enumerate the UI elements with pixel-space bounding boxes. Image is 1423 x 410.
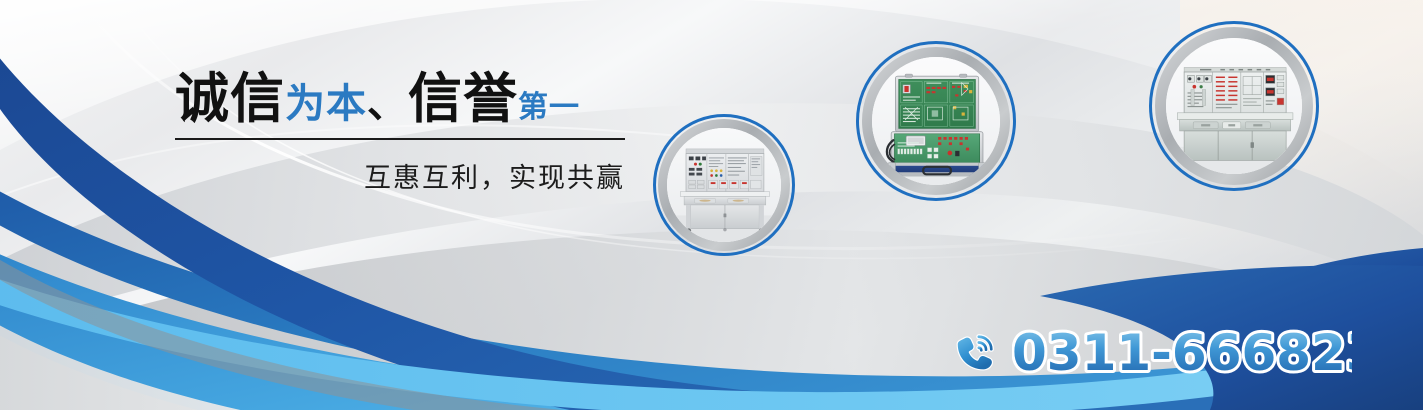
large-bench-illustration <box>1166 38 1302 174</box>
phone-call-icon[interactable] <box>952 331 998 377</box>
product-photo-3 <box>1166 38 1302 174</box>
product-circle-3[interactable] <box>1149 21 1319 191</box>
headline-xinyu: 信誉 <box>408 67 518 130</box>
training-case-illustration <box>872 57 1000 185</box>
headline-divider <box>175 138 625 140</box>
product-circle-2[interactable] <box>856 41 1016 201</box>
headline-block: 诚信为本、信誉第一 互惠互利，实现共赢 <box>175 72 625 195</box>
headline-line-1: 诚信为本、信誉第一 <box>175 72 625 126</box>
headline-dunhao: 、 <box>367 81 408 127</box>
headline-weiben: 为本 <box>285 81 367 127</box>
contact-phone-row[interactable]: 0311-66682303 <box>952 325 1352 383</box>
product-photo-2 <box>872 57 1000 185</box>
phone-number-label: 0311-66682303 <box>1012 325 1352 382</box>
headline-chengxin: 诚信 <box>175 67 285 130</box>
workbench-illustration <box>667 128 781 242</box>
phone-number-graphic[interactable]: 0311-66682303 <box>1012 325 1352 383</box>
headline-diyi: 第一 <box>518 90 580 125</box>
promo-banner: 诚信为本、信誉第一 互惠互利，实现共赢 <box>0 0 1423 410</box>
product-circle-1[interactable] <box>653 114 795 256</box>
headline-subtitle: 互惠互利，实现共赢 <box>175 156 625 195</box>
product-photo-1 <box>667 128 781 242</box>
